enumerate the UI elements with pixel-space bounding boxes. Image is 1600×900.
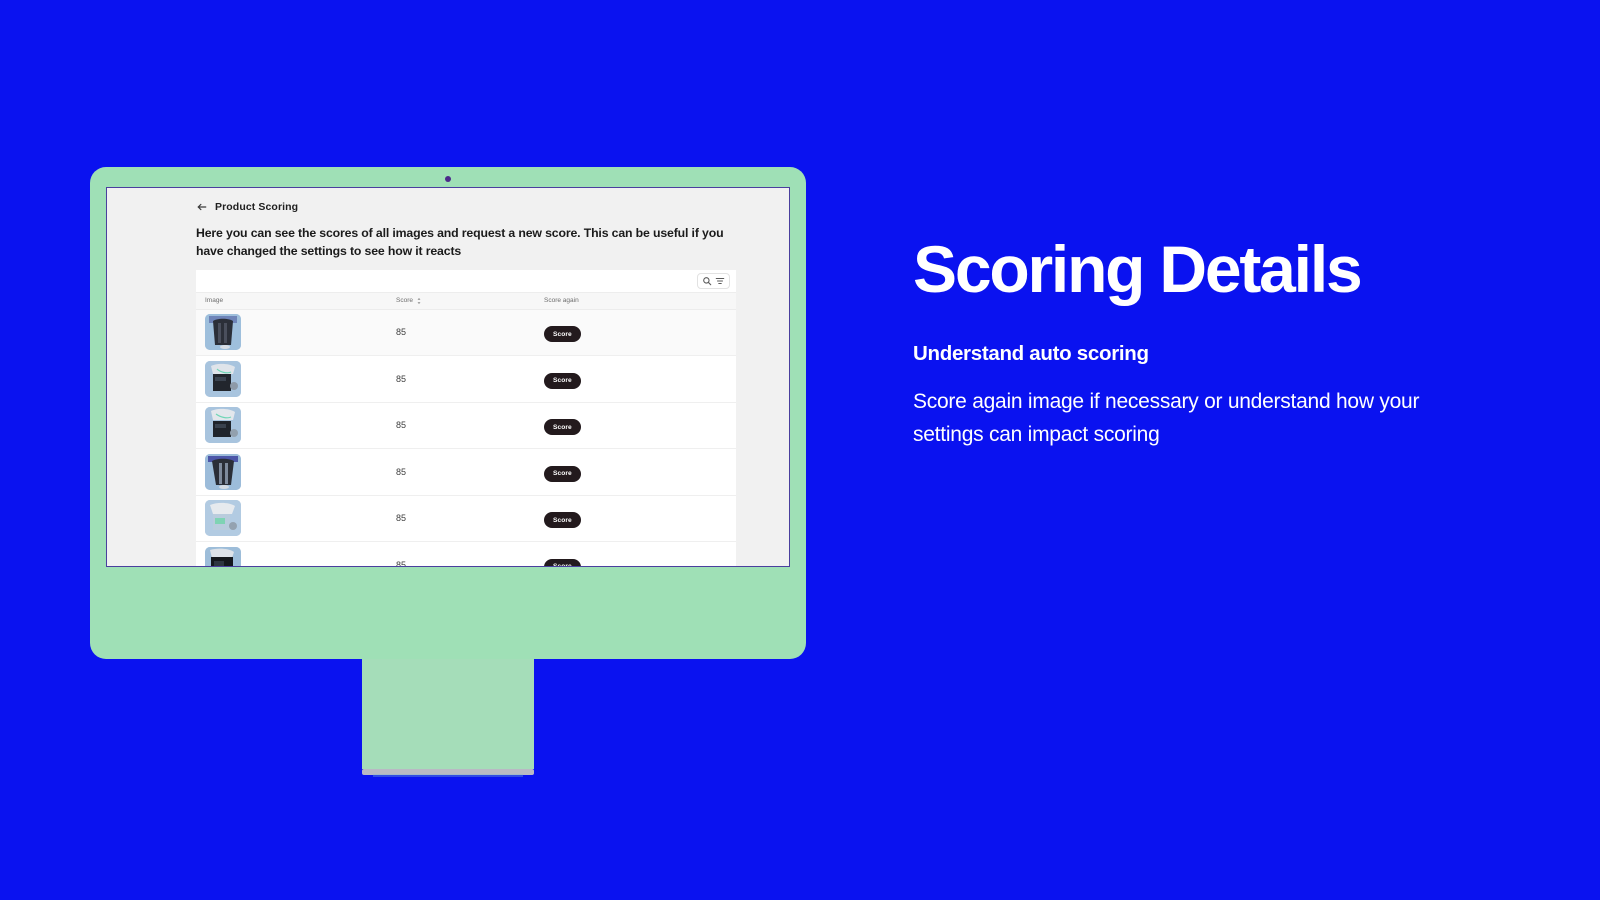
subheadline: Understand auto scoring (913, 342, 1513, 366)
page-title: Product Scoring (215, 201, 298, 213)
column-header-score-again: Score again (544, 297, 736, 304)
score-button[interactable]: Score (544, 419, 581, 435)
score-button[interactable]: Score (544, 512, 581, 528)
scoring-table-card: Image Score Score again (196, 270, 736, 567)
table-body: 85Score85Score85Score85Score85Score85Sco… (196, 310, 736, 567)
table-row[interactable]: 85Score (196, 403, 736, 450)
product-thumbnail[interactable] (205, 454, 241, 490)
cell-image (196, 314, 396, 350)
product-thumbnail[interactable] (205, 361, 241, 397)
table-row[interactable]: 85Score (196, 496, 736, 543)
cell-score: 85 (396, 513, 544, 523)
table-header-row: Image Score Score again (196, 293, 736, 310)
cell-score: 85 (396, 374, 544, 384)
cell-image (196, 407, 396, 443)
cell-image (196, 547, 396, 567)
product-thumbnail[interactable] (205, 314, 241, 350)
score-button[interactable]: Score (544, 373, 581, 389)
table-row[interactable]: 85Score (196, 449, 736, 496)
search-input[interactable] (196, 270, 697, 292)
cell-score: 85 (396, 560, 544, 567)
score-button[interactable]: Score (544, 326, 581, 342)
slide-canvas: Product Scoring Here you can see the sco… (0, 0, 1600, 900)
cell-score-again: Score (544, 555, 736, 567)
filter-icon[interactable] (715, 276, 725, 286)
score-button[interactable]: Score (544, 466, 581, 482)
app-window: Product Scoring Here you can see the sco… (107, 188, 790, 567)
cell-score: 85 (396, 327, 544, 337)
cell-score: 85 (396, 420, 544, 430)
imac-mockup: Product Scoring Here you can see the sco… (90, 167, 806, 659)
app-header: Product Scoring (107, 188, 790, 213)
copy-panel: Scoring Details Understand auto scoring … (913, 236, 1513, 451)
table-toolbar (196, 270, 736, 293)
cell-score-again: Score (544, 416, 736, 436)
column-header-score[interactable]: Score (396, 297, 544, 305)
cell-score-again: Score (544, 462, 736, 482)
column-header-image: Image (196, 297, 396, 304)
imac-screen: Product Scoring Here you can see the sco… (106, 187, 790, 567)
arrow-left-icon[interactable] (196, 201, 208, 213)
score-button[interactable]: Score (544, 559, 581, 567)
toolbar-icon-group (697, 273, 730, 289)
cell-image (196, 500, 396, 536)
imac-stand-shadow (373, 774, 523, 777)
headline: Scoring Details (913, 236, 1513, 302)
cell-image (196, 454, 396, 490)
cell-image (196, 361, 396, 397)
sort-updown-icon[interactable] (416, 297, 422, 305)
webcam-icon (445, 176, 451, 182)
page-description: Here you can see the scores of all image… (196, 225, 736, 261)
table-row[interactable]: 85Score (196, 542, 736, 567)
product-thumbnail[interactable] (205, 407, 241, 443)
table-row[interactable]: 85Score (196, 356, 736, 403)
imac-stand-neck (362, 659, 534, 769)
cell-score-again: Score (544, 509, 736, 529)
product-thumbnail[interactable] (205, 500, 241, 536)
body-copy: Score again image if necessary or unders… (913, 386, 1458, 451)
imac-bezel: Product Scoring Here you can see the sco… (90, 167, 806, 659)
cell-score-again: Score (544, 323, 736, 343)
table-row[interactable]: 85Score (196, 310, 736, 357)
cell-score-again: Score (544, 369, 736, 389)
cell-score: 85 (396, 467, 544, 477)
column-header-score-label: Score (396, 297, 413, 304)
search-icon[interactable] (702, 276, 712, 286)
product-thumbnail[interactable] (205, 547, 241, 567)
